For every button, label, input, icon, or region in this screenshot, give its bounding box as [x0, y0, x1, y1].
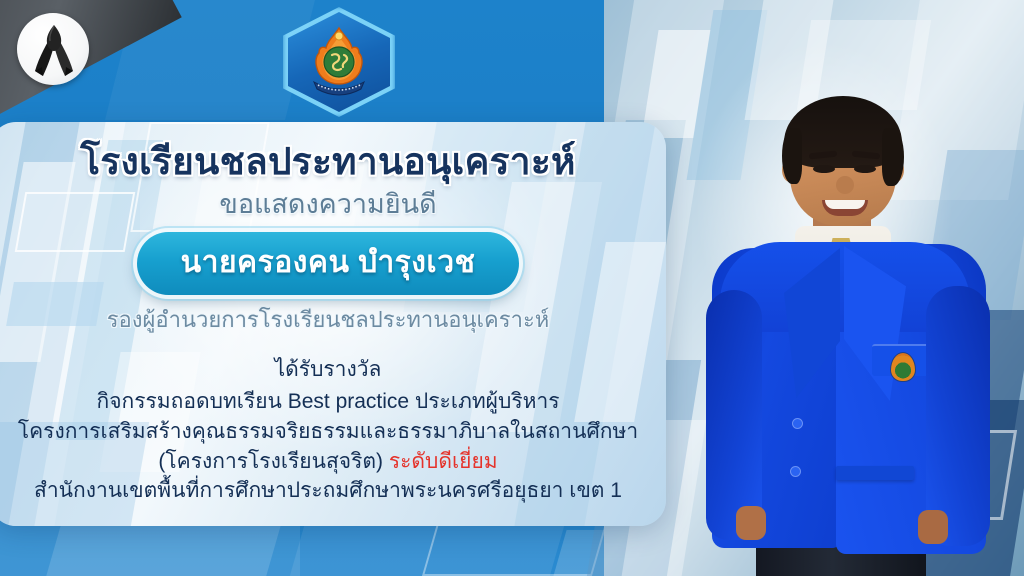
jacket-button — [790, 466, 801, 477]
award-intro: ได้รับรางวัล — [16, 355, 640, 385]
congratulation-text: ขอแสดงความยินดี — [16, 189, 640, 220]
award-details: ได้รับรางวัล กิจกรรมถอดบทเรียน Best prac… — [16, 355, 640, 506]
honoree-name-pill: นายครองคน บำรุงเวช — [137, 232, 520, 295]
content-panel: โรงเรียนชลประทานอนุเคราะห์ ขอแสดงความยิน… — [0, 122, 666, 526]
sleeve-right — [926, 286, 990, 546]
teeth — [825, 200, 865, 209]
hair-side-left — [782, 128, 802, 184]
jacket-button — [792, 418, 803, 429]
hand-right — [918, 510, 948, 544]
ministry-emblem-badge — [288, 12, 390, 112]
mourning-ribbon-badge — [17, 13, 89, 85]
sleeve-left — [706, 290, 762, 540]
award-line-1: กิจกรรมถอดบทเรียน Best practice ประเภทผู… — [16, 387, 640, 417]
honoree-name: นายครองคน บำรุงเวช — [181, 246, 476, 279]
black-ribbon-icon — [29, 21, 79, 79]
pocket-emblem-icon — [890, 352, 916, 382]
eye-left — [813, 165, 835, 173]
hand-left — [736, 506, 766, 540]
honoree-position: รองผู้อำนวยการโรงเรียนชลประทานอนุเคราะห์ — [16, 307, 640, 333]
portrait-photo — [676, 66, 1006, 576]
school-name: โรงเรียนชลประทานอนุเคราะห์ — [16, 142, 640, 183]
award-level-highlight: ระดับดีเยี่ยม — [389, 450, 498, 473]
award-line-4: สำนักงานเขตพื้นที่การศึกษาประถมศึกษาพระน… — [16, 476, 640, 506]
congratulation-banner: โรงเรียนชลประทานอนุเคราะห์ ขอแสดงความยิน… — [0, 0, 1024, 576]
hair-side-right — [882, 128, 904, 186]
award-project-name: (โครงการโรงเรียนสุจริต) — [158, 450, 388, 473]
pocket-flap — [836, 466, 914, 480]
award-line-2: โครงการเสริมสร้างคุณธรรมจริยธรรมและธรรมา… — [16, 417, 640, 447]
nose — [836, 176, 854, 194]
ministry-of-education-emblem-icon — [304, 24, 374, 100]
award-line-3: (โครงการโรงเรียนสุจริต) ระดับดีเยี่ยม — [16, 447, 640, 477]
eye-right — [854, 165, 876, 173]
